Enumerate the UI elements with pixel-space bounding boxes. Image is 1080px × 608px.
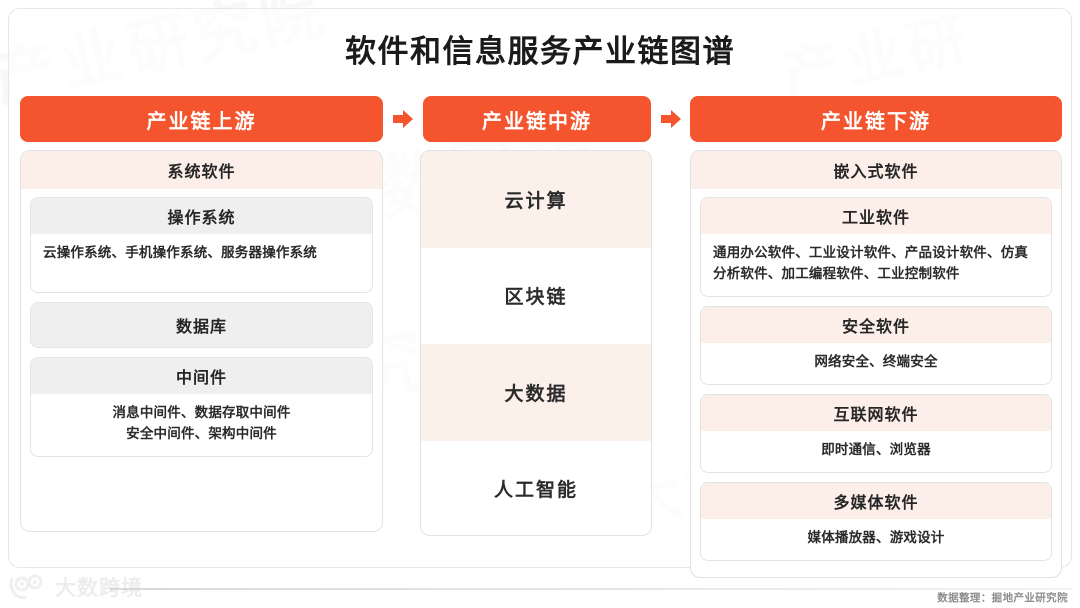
downstream-item-multimedia-detail: 媒体播放器、游戏设计 bbox=[701, 519, 1051, 560]
downstream-item-internet-header: 互联网软件 bbox=[701, 395, 1051, 431]
downstream-item-security-label: 安全软件 bbox=[842, 313, 910, 337]
downstream-item-security-header: 安全软件 bbox=[701, 307, 1051, 343]
midstream-item-bigdata[interactable]: 大数据 bbox=[421, 344, 651, 441]
midstream-item-cloud[interactable]: 云计算 bbox=[421, 151, 651, 248]
downstream-item-internet-detail: 即时通信、浏览器 bbox=[701, 431, 1051, 472]
downstream-item-industrial-detail: 通用办公软件、工业设计软件、产品设计软件、仿真分析软件、加工编程软件、工业控制软… bbox=[701, 234, 1051, 296]
downstream-item-industrial-header: 工业软件 bbox=[701, 198, 1051, 234]
upstream-item-os-label: 操作系统 bbox=[167, 204, 235, 228]
downstream-item-multimedia-header: 多媒体软件 bbox=[701, 483, 1051, 519]
midstream-item-blockchain[interactable]: 区块链 bbox=[421, 248, 651, 345]
stage-header-downstream[interactable]: 产业链下游 bbox=[690, 96, 1062, 142]
downstream-item-security[interactable]: 安全软件 网络安全、终端安全 bbox=[700, 306, 1052, 385]
upstream-item-os-header: 操作系统 bbox=[31, 198, 372, 234]
upstream-item-os[interactable]: 操作系统 云操作系统、手机操作系统、服务器操作系统 bbox=[30, 197, 373, 293]
upstream-item-middleware-header: 中间件 bbox=[31, 358, 372, 394]
upstream-item-middleware-label: 中间件 bbox=[176, 364, 227, 388]
downstream-category-header: 嵌入式软件 bbox=[691, 151, 1061, 189]
upstream-item-middleware-detail: 消息中间件、数据存取中间件 安全中间件、架构中间件 bbox=[31, 394, 372, 456]
data-credit: 数据整理：掘地产业研究院 bbox=[937, 590, 1068, 605]
downstream-item-internet-label: 互联网软件 bbox=[833, 401, 918, 425]
midstream-column: 云计算 区块链 大数据 人工智能 bbox=[420, 150, 652, 536]
stage-header-midstream-label: 产业链中游 bbox=[482, 105, 592, 134]
upstream-category-header: 系统软件 bbox=[21, 151, 382, 189]
infographic-page: 产业研究院 大数跨境 产业研究 大数跨境 产业研 软件和信息服务产业链图谱 产业… bbox=[0, 0, 1080, 608]
midstream-item-ai[interactable]: 人工智能 bbox=[421, 441, 651, 537]
downstream-items: 工业软件 通用办公软件、工业设计软件、产品设计软件、仿真分析软件、加工编程软件、… bbox=[691, 189, 1061, 570]
downstream-category-label: 嵌入式软件 bbox=[833, 158, 918, 182]
upstream-item-database[interactable]: 数据库 bbox=[30, 302, 373, 348]
downstream-item-multimedia-label: 多媒体软件 bbox=[833, 489, 918, 513]
downstream-item-internet[interactable]: 互联网软件 即时通信、浏览器 bbox=[700, 394, 1052, 473]
upstream-category-label: 系统软件 bbox=[167, 158, 235, 182]
stage-header-row: 产业链上游 产业链中游 产业链下游 bbox=[20, 96, 1062, 142]
footer-divider bbox=[110, 588, 1072, 590]
arrow-right-icon bbox=[391, 107, 415, 131]
upstream-item-os-detail: 云操作系统、手机操作系统、服务器操作系统 bbox=[31, 234, 372, 292]
brand-logo-icon bbox=[8, 574, 50, 600]
downstream-column: 嵌入式软件 工业软件 通用办公软件、工业设计软件、产品设计软件、仿真分析软件、加… bbox=[690, 150, 1062, 578]
arrow-right-icon bbox=[659, 107, 683, 131]
stage-header-downstream-label: 产业链下游 bbox=[821, 105, 931, 134]
page-title: 软件和信息服务产业链图谱 bbox=[0, 26, 1080, 71]
upstream-column: 系统软件 操作系统 云操作系统、手机操作系统、服务器操作系统 数据库 中间件 消… bbox=[20, 150, 383, 532]
downstream-item-multimedia[interactable]: 多媒体软件 媒体播放器、游戏设计 bbox=[700, 482, 1052, 561]
downstream-item-industrial[interactable]: 工业软件 通用办公软件、工业设计软件、产品设计软件、仿真分析软件、加工编程软件、… bbox=[700, 197, 1052, 297]
downstream-item-industrial-label: 工业软件 bbox=[842, 204, 910, 228]
stage-header-upstream-label: 产业链上游 bbox=[147, 105, 257, 134]
brand-logo-text: 大数跨境 bbox=[55, 572, 143, 602]
downstream-item-security-detail: 网络安全、终端安全 bbox=[701, 343, 1051, 384]
upstream-items: 操作系统 云操作系统、手机操作系统、服务器操作系统 数据库 中间件 消息中间件、… bbox=[21, 189, 382, 466]
upstream-item-middleware[interactable]: 中间件 消息中间件、数据存取中间件 安全中间件、架构中间件 bbox=[30, 357, 373, 457]
stage-header-midstream[interactable]: 产业链中游 bbox=[423, 96, 651, 142]
upstream-item-database-label: 数据库 bbox=[176, 313, 227, 337]
brand-logo: 大数跨境 bbox=[8, 572, 143, 602]
stage-header-upstream[interactable]: 产业链上游 bbox=[20, 96, 383, 142]
upstream-item-database-header: 数据库 bbox=[31, 303, 372, 347]
